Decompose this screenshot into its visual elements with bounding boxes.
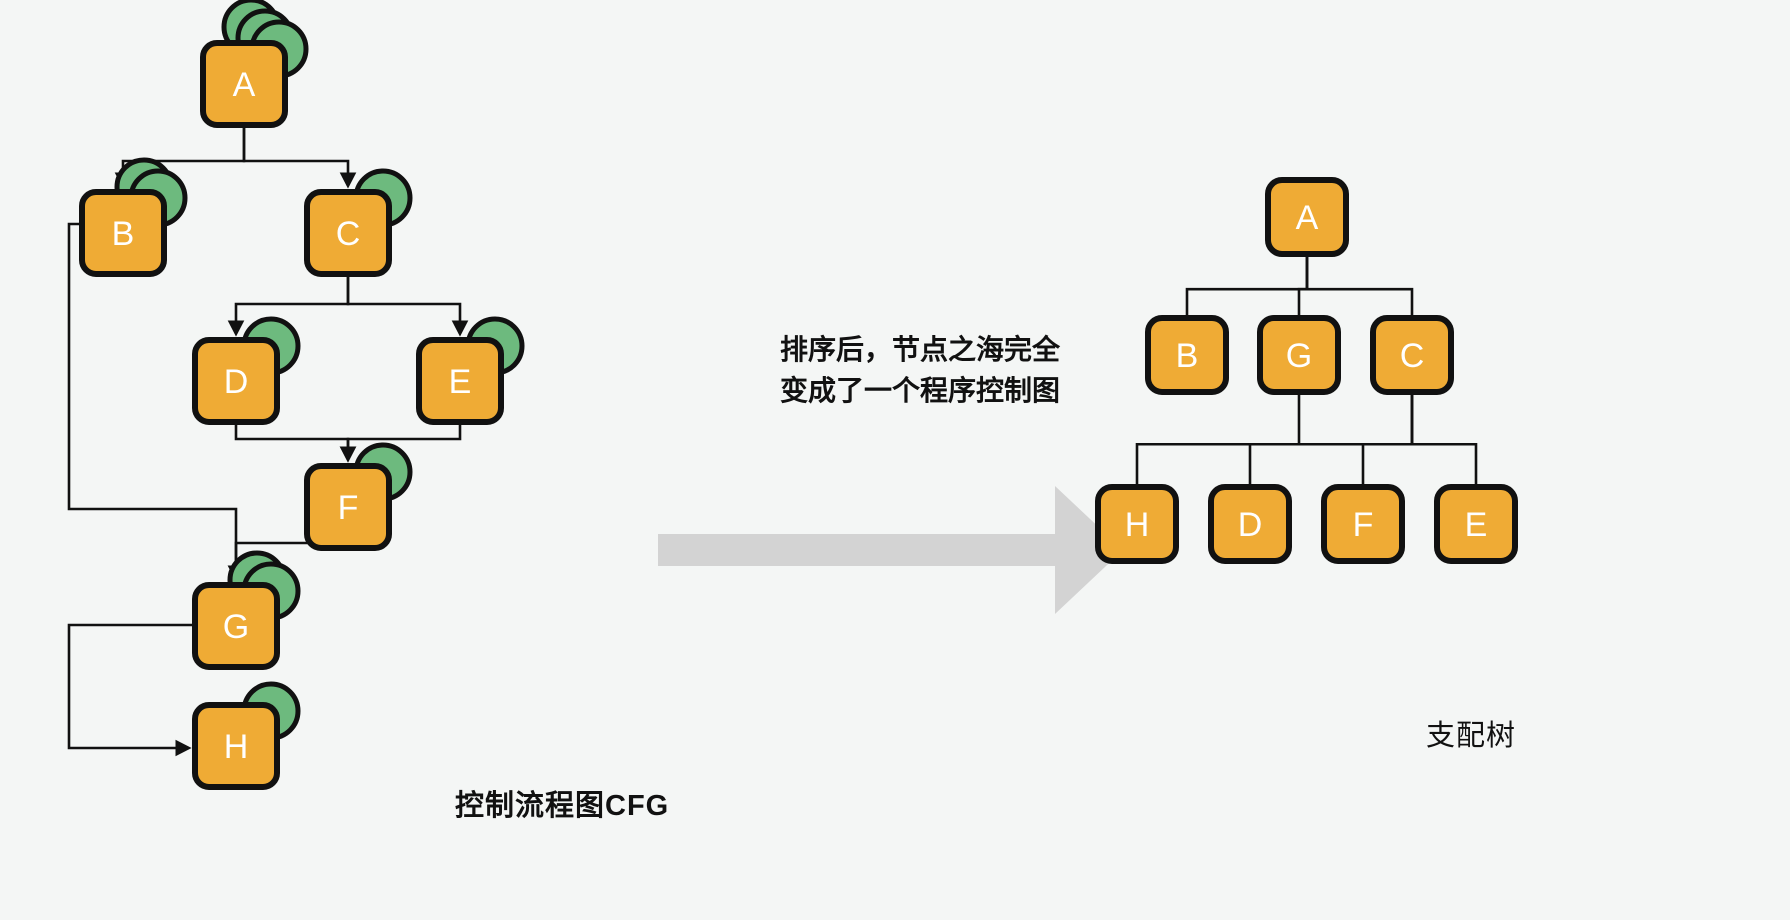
cfg-node-e-label: E bbox=[449, 363, 472, 401]
dom-node-h-label: H bbox=[1125, 506, 1150, 544]
cfg-node-group: ABCDEFGH bbox=[82, 0, 522, 787]
dom-node-c-label: C bbox=[1400, 337, 1425, 375]
dom-edge-c-e bbox=[1412, 392, 1476, 487]
cfg-node-g-label: G bbox=[223, 608, 249, 646]
cfg-node-a[interactable]: A bbox=[203, 0, 306, 125]
cfg-node-f[interactable]: F bbox=[307, 445, 410, 548]
dom-node-d-label: D bbox=[1238, 506, 1263, 544]
dom-node-d[interactable]: D bbox=[1211, 487, 1289, 561]
cfg-node-a-label: A bbox=[233, 66, 256, 104]
dom-node-f[interactable]: F bbox=[1324, 487, 1402, 561]
transform-note-line-2: 变成了一个程序控制图 bbox=[780, 371, 1060, 412]
cfg-node-e[interactable]: E bbox=[419, 319, 522, 422]
transform-note-line-1: 排序后，节点之海完全 bbox=[780, 330, 1060, 371]
diagram-canvas: ABCDEFGH ABGCHDFE 排序后，节点之海完全 变成了一个程序控制图 … bbox=[0, 0, 1790, 920]
cfg-node-d[interactable]: D bbox=[195, 319, 298, 422]
dom-node-e-label: E bbox=[1465, 506, 1488, 544]
cfg-node-b[interactable]: B bbox=[82, 160, 185, 274]
cfg-caption: 控制流程图CFG bbox=[455, 782, 669, 824]
dom-edge-a-c bbox=[1307, 254, 1412, 318]
cfg-node-c-label: C bbox=[336, 215, 361, 253]
dom-node-h[interactable]: H bbox=[1098, 487, 1176, 561]
dom-edge-c-d bbox=[1250, 392, 1412, 487]
cfg-node-f-label: F bbox=[338, 489, 359, 527]
cfg-node-h-label: H bbox=[224, 728, 249, 766]
cfg-edge-c-e bbox=[348, 274, 460, 334]
dom-node-g-label: G bbox=[1286, 337, 1312, 375]
dom-node-a-label: A bbox=[1296, 199, 1319, 237]
cfg-edge-d-f bbox=[236, 422, 348, 460]
cfg-edge-g-h bbox=[69, 625, 195, 748]
right-arrow-icon bbox=[658, 486, 1123, 614]
dom-edge-a-b bbox=[1187, 254, 1307, 318]
transform-note: 排序后，节点之海完全 变成了一个程序控制图 bbox=[780, 330, 1060, 411]
cfg-node-h[interactable]: H bbox=[195, 684, 298, 787]
dom-edge-c-f bbox=[1363, 392, 1412, 487]
cfg-edge-a-c bbox=[244, 125, 348, 186]
cfg-node-d-label: D bbox=[224, 363, 249, 401]
diagram-svg: ABCDEFGH ABGCHDFE bbox=[0, 0, 1790, 920]
cfg-node-g[interactable]: G bbox=[195, 553, 298, 667]
dom-edge-g-h bbox=[1137, 392, 1299, 487]
dominator-tree-caption: 支配树 bbox=[1426, 712, 1516, 754]
dom-node-g[interactable]: G bbox=[1260, 318, 1338, 392]
dominator-node-group: ABGCHDFE bbox=[1098, 180, 1515, 561]
dom-node-e[interactable]: E bbox=[1437, 487, 1515, 561]
dom-node-b[interactable]: B bbox=[1148, 318, 1226, 392]
dom-node-c[interactable]: C bbox=[1373, 318, 1451, 392]
dom-node-a[interactable]: A bbox=[1268, 180, 1346, 254]
transform-arrow bbox=[658, 486, 1123, 614]
dom-node-f-label: F bbox=[1353, 506, 1374, 544]
cfg-node-b-label: B bbox=[112, 215, 135, 253]
dom-node-b-label: B bbox=[1176, 337, 1199, 375]
cfg-node-c[interactable]: C bbox=[307, 171, 410, 274]
